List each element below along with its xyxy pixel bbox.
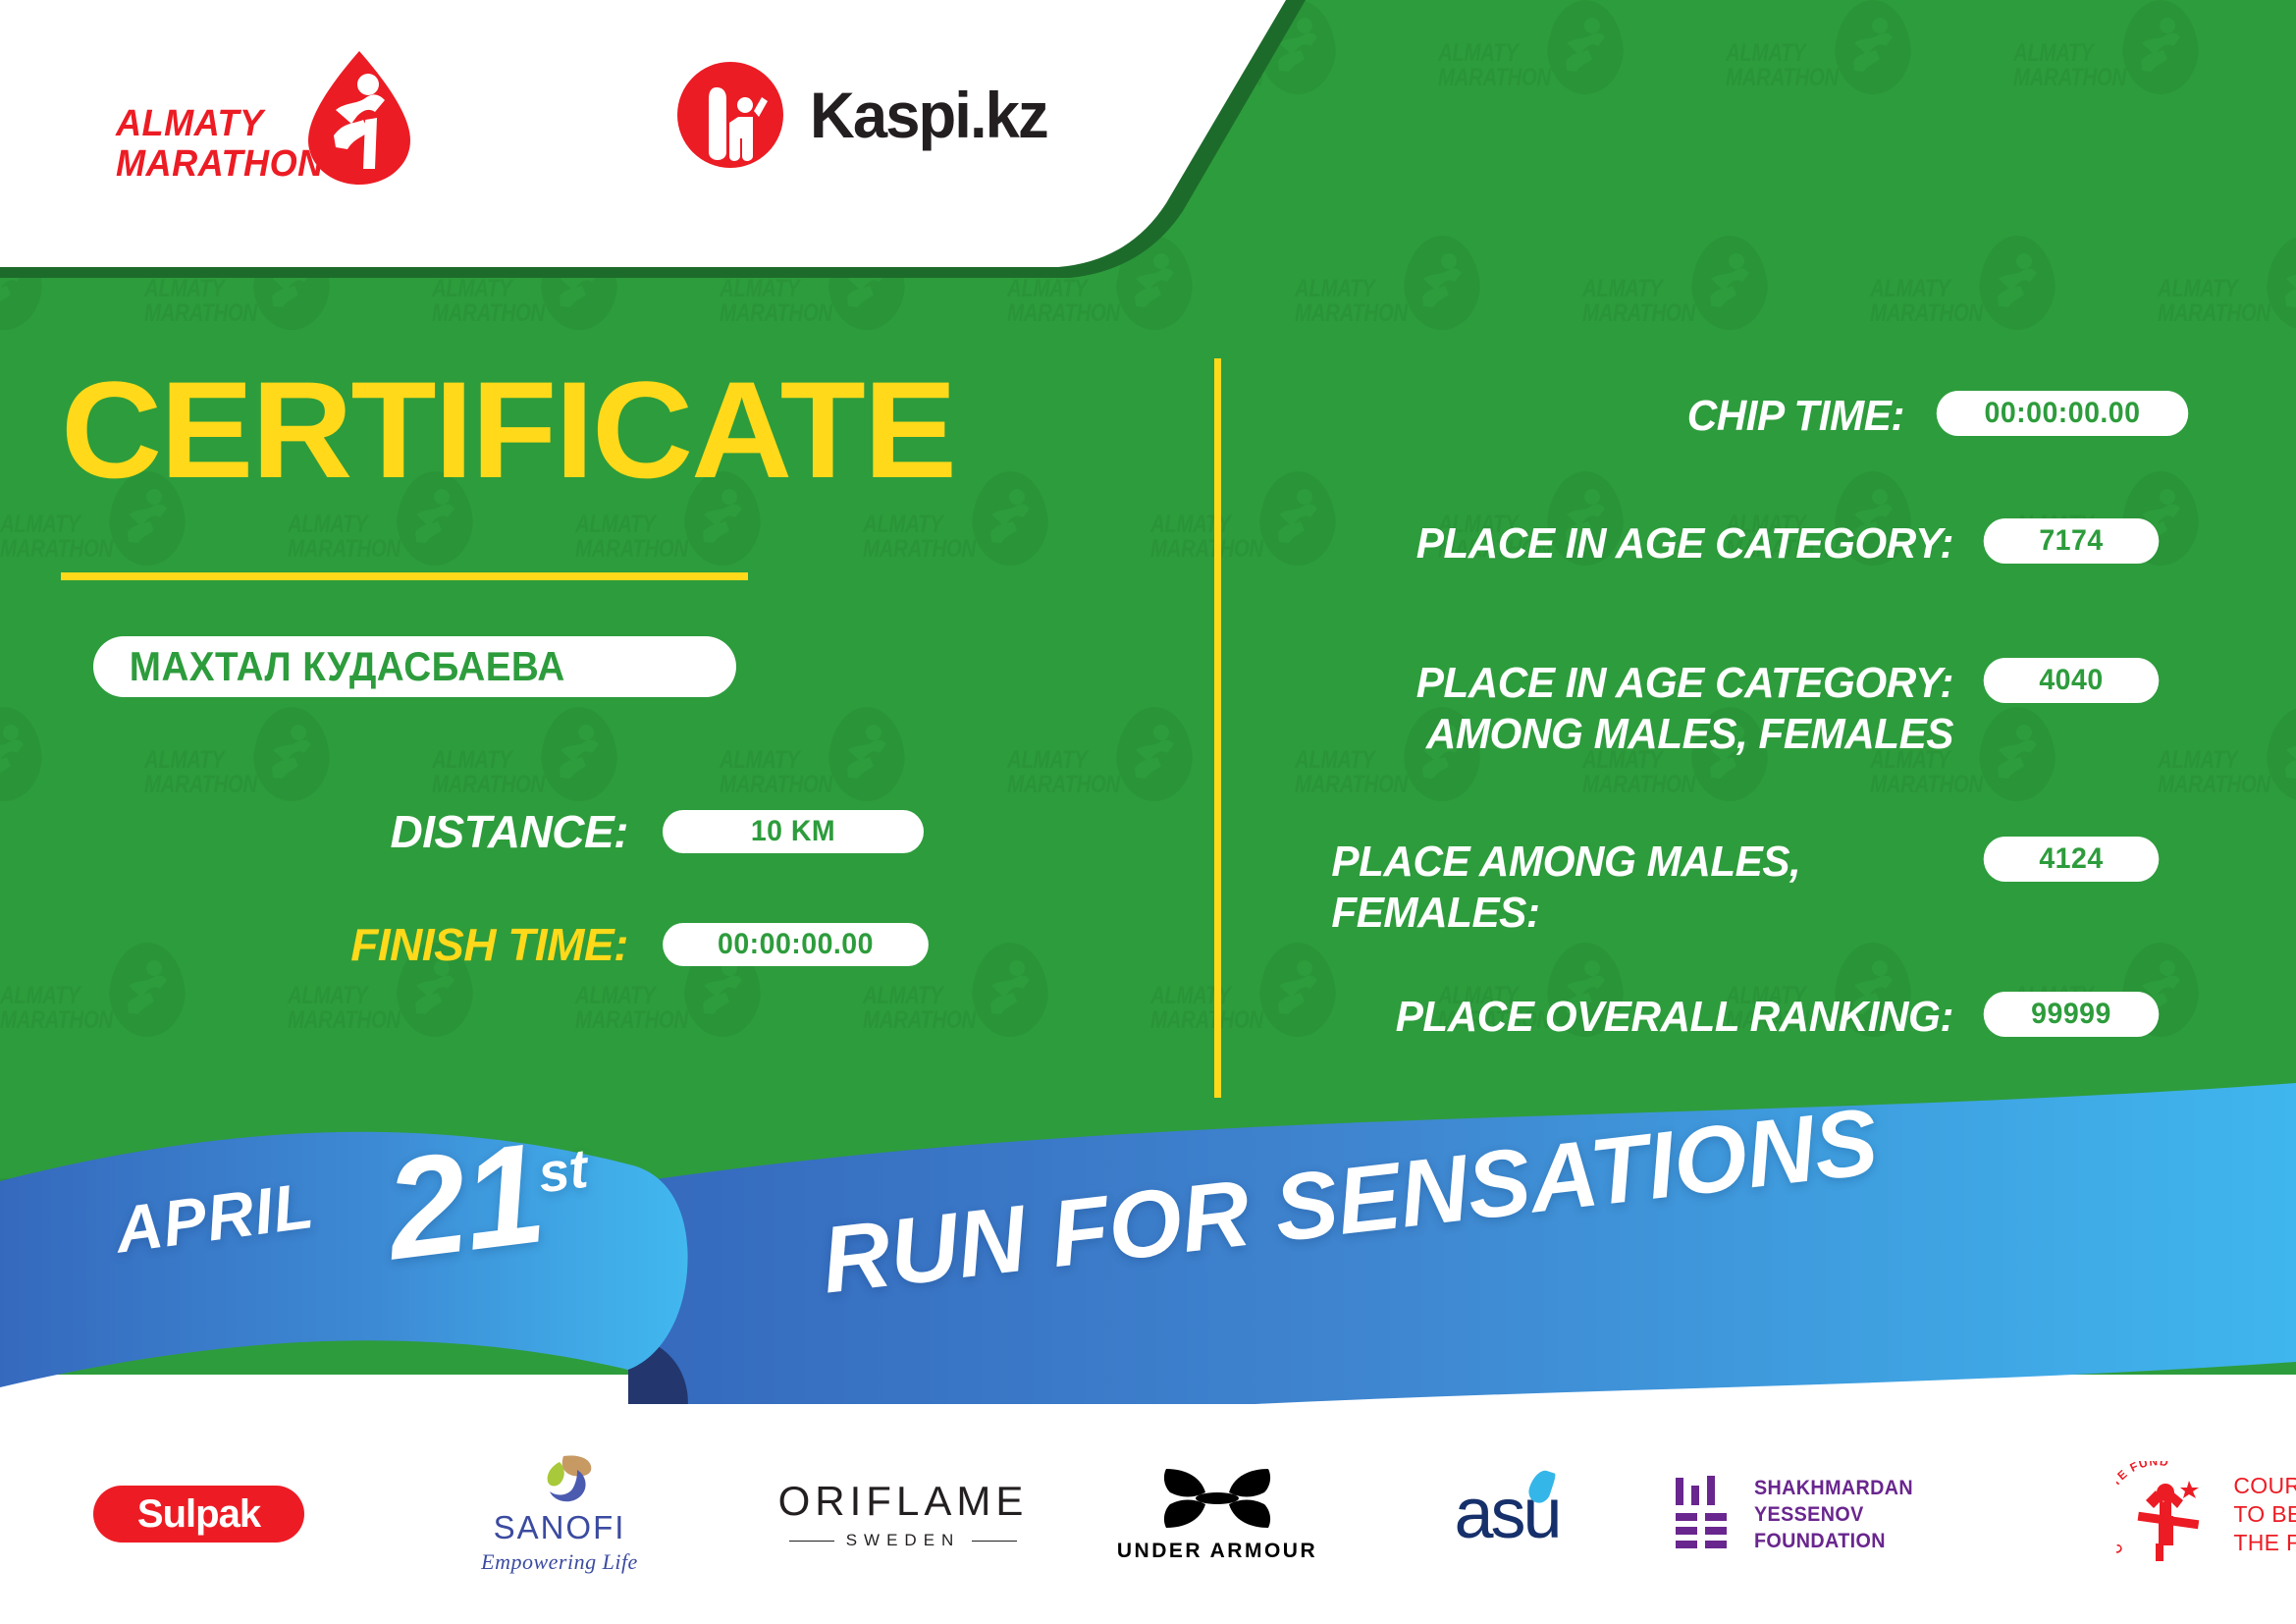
watermark-drop-icon (1691, 236, 1768, 330)
logo-line-2: MARATHON (116, 143, 324, 185)
chip-time-row: CHIP TIME: 00:00:00.00 (1306, 391, 2195, 442)
finish-time-value: 00:00:00.00 (663, 923, 929, 966)
place-overall-ranking-value: 99999 (1984, 992, 2160, 1037)
sulpak-wordmark: Sulpak (137, 1492, 260, 1537)
watermark-text: ALMATYMARATHON (2158, 748, 2270, 797)
sponsor-corporate-fund-courage: CORPORATE FUND COURAGE TO BE THE FIRST! (2076, 1461, 2296, 1567)
watermark-text: ALMATYMARATHON (1150, 984, 1263, 1033)
oriflame-rule-left (789, 1541, 834, 1542)
oriflame-wordmark: ORIFLAME (778, 1478, 1029, 1525)
watermark-text: ALMATYMARATHON (2158, 277, 2270, 326)
watermark-text: ALMATYMARATHON (1438, 41, 1551, 90)
place-age-category-row: PLACE IN AGE CATEGORY: 7174 (1306, 518, 2163, 569)
watermark-drop-icon (253, 707, 330, 801)
watermark-text: ALMATYMARATHON (863, 513, 976, 562)
watermark-tile: ALMATYMARATHON (2158, 236, 2296, 383)
watermark-text: ALMATYMARATHON (432, 748, 545, 797)
watermark-drop-icon (0, 707, 42, 801)
column-divider (1214, 358, 1221, 1098)
watermark-drop-icon (972, 471, 1048, 566)
ribbon-day-number: 21 (378, 1112, 551, 1289)
watermark-text: ALMATYMARATHON (575, 984, 688, 1033)
place-overall-ranking-label: PLACE OVERALL RANKING: (1331, 992, 1953, 1043)
watermark-text: ALMATYMARATHON (0, 984, 113, 1033)
yessenov-foundation-wordmark: SHAKHMARDAN YESSENOV FOUNDATION (1754, 1475, 1983, 1554)
place-among-gender-value: 4124 (1984, 837, 2160, 882)
sanofi-wordmark: SANOFI (494, 1509, 626, 1546)
watermark-drop-icon (1547, 0, 1624, 94)
watermark-text: ALMATYMARATHON (1150, 513, 1263, 562)
finish-time-row: FINISH TIME: 00:00:00.00 (265, 918, 935, 971)
logo-line-1: ALMATY (116, 103, 264, 144)
watermark-text: ALMATYMARATHON (2013, 41, 2126, 90)
watermark-drop-icon (2267, 236, 2296, 330)
place-overall-ranking-row: PLACE OVERALL RANKING: 99999 (1306, 992, 2163, 1043)
watermark-tile: ALMATYMARATHON (2158, 707, 2296, 854)
place-age-category-value: 7174 (1984, 518, 2160, 564)
watermark-drop-icon (109, 943, 186, 1037)
kaspi-kz-logo: Kaspi.kz (677, 61, 1052, 169)
place-among-gender-row: PLACE AMONG MALES, FEMALES: 4124 (1306, 837, 2163, 939)
watermark-drop-icon (541, 707, 617, 801)
watermark-text: ALMATYMARATHON (1007, 748, 1120, 797)
watermark-text: ALMATYMARATHON (144, 748, 257, 797)
ribbon-day-suffix: st (535, 1137, 591, 1205)
watermark-tile: ALMATYMARATHON (1438, 0, 1629, 147)
watermark-drop-icon (2267, 707, 2296, 801)
sponsor-sanofi: SANOFI Empowering Life (456, 1454, 663, 1575)
participant-name-value: МАХТАЛ КУДАСБАЕВА (93, 643, 565, 690)
watermark-tile: ALMATYMARATHON (1726, 0, 1917, 147)
page-title: CERTIFICATE (61, 361, 955, 499)
oriflame-sub: SWEDEN (771, 1531, 1036, 1550)
sponsor-oriflame: ORIFLAME SWEDEN (771, 1478, 1036, 1550)
place-among-gender-label: PLACE AMONG MALES, FEMALES: (1331, 837, 1953, 939)
participant-name-field: МАХТАЛ КУДАСБАЕВА (93, 636, 736, 697)
watermark-tile: ALMATYMARATHON (0, 943, 191, 1090)
place-age-category-gender-value: 4040 (1984, 658, 2160, 703)
watermark-drop-icon (972, 943, 1048, 1037)
watermark-drop-icon (1116, 707, 1193, 801)
watermark-tile: ALMATYMARATHON (1582, 236, 1774, 383)
yessenov-foundation-mark-icon (1674, 1476, 1733, 1552)
watermark-text: ALMATYMARATHON (1870, 277, 1983, 326)
watermark-drop-icon (1979, 236, 2056, 330)
ribbon-day: 21st (378, 1105, 600, 1292)
kaspi-wordmark: Kaspi.kz (810, 78, 1047, 152)
chip-time-label: CHIP TIME: (1329, 391, 1904, 442)
watermark-tile: ALMATYMARATHON (2013, 0, 2205, 147)
courage-fund-mark-icon: CORPORATE FUND (2116, 1461, 2219, 1567)
oriflame-sweden: SWEDEN (846, 1531, 961, 1550)
certificate-canvas: ALMATYMARATHONALMATYMARATHONALMATYMARATH… (0, 0, 2296, 1624)
watermark-text: ALMATYMARATHON (720, 748, 832, 797)
title-underline (61, 572, 748, 580)
distance-value: 10 KM (663, 810, 924, 853)
distance-row: DISTANCE: 10 KM (265, 805, 931, 858)
sanofi-mark-icon (524, 1454, 595, 1505)
watermark-drop-icon (1835, 0, 1911, 94)
sponsor-shakhmardan-yessenov-foundation: SHAKHMARDAN YESSENOV FOUNDATION (1674, 1475, 1998, 1554)
watermark-tile: ALMATYMARATHON (0, 707, 48, 854)
watermark-text: ALMATYMARATHON (863, 984, 976, 1033)
sponsor-under-armour: UNDER ARMOUR (1104, 1465, 1330, 1563)
courage-fund-wordmark: COURAGE TO BE THE FIRST! (2233, 1472, 2296, 1557)
watermark-text: ALMATYMARATHON (575, 513, 688, 562)
watermark-text: ALMATYMARATHON (1582, 277, 1695, 326)
chip-time-value: 00:00:00.00 (1937, 391, 2189, 436)
watermark-drop-icon (828, 707, 905, 801)
place-age-category-gender-label: PLACE IN AGE CATEGORY: AMONG MALES, FEMA… (1331, 658, 1953, 760)
under-armour-mark-icon (1158, 1465, 1276, 1532)
finish-time-label: FINISH TIME: (265, 918, 628, 971)
asu-wordmark: asu (1454, 1474, 1559, 1554)
oriflame-rule-right (972, 1541, 1017, 1542)
almaty-marathon-logo: ALMATYMARATHON (116, 47, 420, 180)
distance-label: DISTANCE: (265, 805, 628, 858)
watermark-drop-icon (2122, 0, 2199, 94)
sponsor-sulpak: Sulpak (93, 1486, 304, 1543)
place-age-category-label: PLACE IN AGE CATEGORY: (1331, 518, 1953, 569)
watermark-tile: ALMATYMARATHON (1007, 707, 1199, 854)
sponsor-strip: Sulpak SANOFI Empowering Life ORIFLAME S… (0, 1404, 2296, 1624)
sponsor-asu: asu (1399, 1474, 1615, 1554)
watermark-tile: ALMATYMARATHON (1870, 236, 2061, 383)
watermark-text: ALMATYMARATHON (0, 513, 113, 562)
place-age-category-gender-row: PLACE IN AGE CATEGORY: AMONG MALES, FEMA… (1306, 658, 2163, 760)
watermark-text: ALMATYMARATHON (288, 984, 400, 1033)
under-armour-wordmark: UNDER ARMOUR (1117, 1540, 1317, 1563)
kaspi-mark-icon (677, 62, 783, 168)
watermark-text: ALMATYMARATHON (1726, 41, 1839, 90)
sanofi-tagline: Empowering Life (481, 1549, 638, 1575)
watermark-text: ALMATYMARATHON (288, 513, 400, 562)
almaty-marathon-wordmark: ALMATYMARATHON (116, 104, 324, 185)
